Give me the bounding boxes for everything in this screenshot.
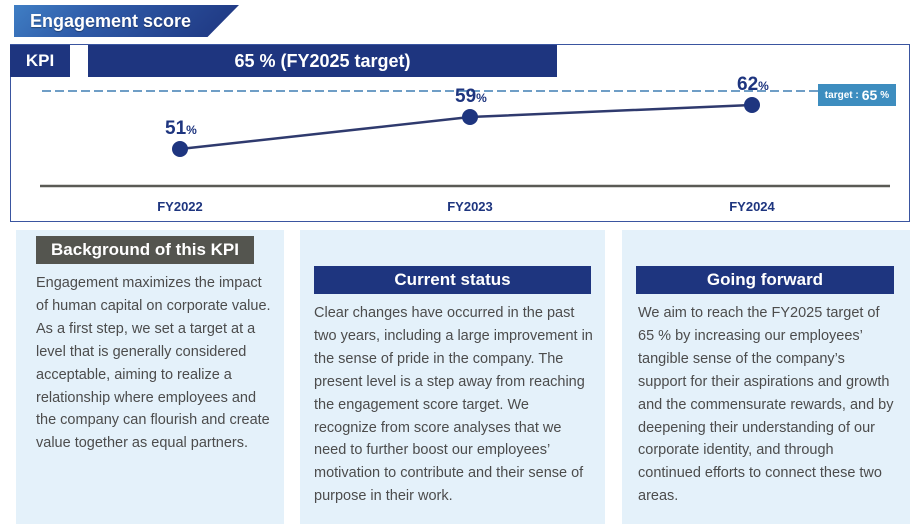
target-badge-label: target : [825, 90, 859, 101]
data-label-fy2022-value: 51 [165, 118, 186, 139]
panel-going-forward: Going forward We aim to reach the FY2025… [622, 230, 910, 524]
panel-current-status-body: Clear changes have occurred in the past … [314, 302, 594, 508]
axis-label-fy2023: FY2023 [447, 199, 493, 214]
section-title-tab: Engagement score [14, 5, 239, 37]
axis-label-fy2024: FY2024 [729, 199, 775, 214]
data-label-fy2023-value: 59 [455, 86, 476, 107]
panel-background-header: Background of this KPI [36, 236, 254, 264]
kpi-headline-bar: 65 % (FY2025 target) [88, 45, 557, 77]
panel-current-status: Current status Clear changes have occurr… [300, 230, 605, 524]
data-label-fy2022-unit: % [186, 123, 197, 137]
data-label-fy2023-unit: % [476, 91, 487, 105]
target-badge-value: 65 [862, 87, 878, 103]
panel-background-of-kpi: Background of this KPI Engagement maximi… [16, 230, 284, 524]
axis-label-fy2022: FY2022 [157, 199, 203, 214]
data-label-fy2024-unit: % [758, 79, 769, 93]
data-label-fy2024-value: 62 [737, 74, 758, 95]
panel-current-status-header: Current status [314, 266, 591, 294]
kpi-label-chip: KPI [10, 45, 70, 77]
data-label-fy2022: 51% [165, 119, 197, 138]
page-title: Engagement score [30, 8, 191, 35]
target-badge-unit: % [880, 90, 889, 101]
panel-going-forward-body: We aim to reach the FY2025 target of 65 … [638, 302, 896, 508]
panel-background-body: Engagement maximizes the impact of human… [36, 272, 272, 455]
panel-going-forward-header: Going forward [636, 266, 894, 294]
data-label-fy2024: 62% [737, 75, 769, 94]
data-label-fy2023: 59% [455, 87, 487, 106]
target-badge: target :65% [818, 84, 896, 106]
